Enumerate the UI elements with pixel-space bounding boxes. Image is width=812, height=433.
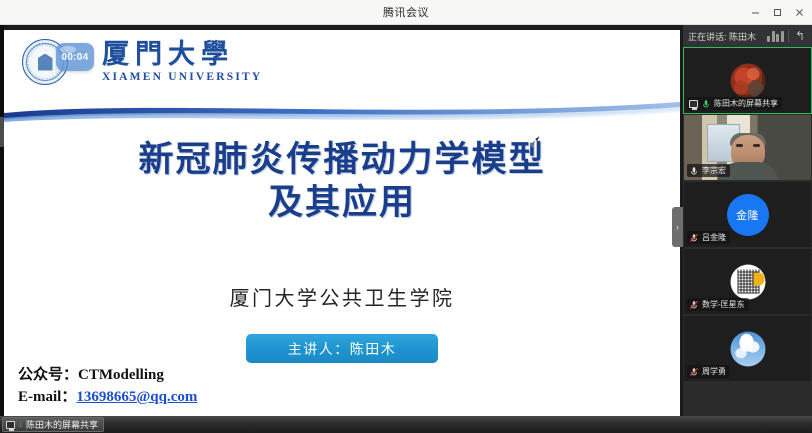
shared-screen-stage[interactable]: 00:04 厦門大學 XIAMEN UNIVERSITY: [0, 25, 683, 416]
window-title: 腾讯会议: [383, 4, 429, 20]
participant-tile[interactable]: 李宗宏: [683, 114, 812, 181]
collapse-right-icon[interactable]: ↰: [793, 30, 807, 42]
email-value[interactable]: 13698665@qq.com: [76, 389, 197, 405]
header-swoosh-divider: [4, 96, 680, 122]
university-name-cn: 厦門大學: [102, 41, 262, 69]
toolbar-separator: [788, 30, 789, 42]
avatar: 金隆: [727, 194, 769, 236]
maximize-icon[interactable]: [766, 2, 788, 24]
minimize-icon[interactable]: [744, 2, 766, 24]
screen-share-icon: [689, 100, 698, 108]
participant-tile[interactable]: 数学-匡星东: [683, 248, 812, 315]
slide-header: 00:04 厦門大學 XIAMEN UNIVERSITY: [4, 30, 680, 102]
active-speaker-bar: 正在讲话: 陈田木 ↰: [683, 25, 812, 47]
meeting-timer-badge: 00:04: [56, 43, 94, 71]
participant-tile[interactable]: 金隆 吕金隆: [683, 181, 812, 248]
wechat-line: 公众号：CTModelling: [18, 365, 197, 386]
mic-muted-icon: [689, 233, 699, 243]
taskbar: ↓ 陈田木的屏幕共享: [0, 416, 812, 433]
sidebar-collapse-handle[interactable]: ›: [672, 207, 683, 247]
email-label: E-mail：: [18, 389, 76, 405]
email-line: E-mail：13698665@qq.com: [18, 387, 197, 408]
participant-name: 数学-匡星东: [702, 299, 745, 310]
participant-tiles: 陈田木的屏幕共享 李宗宏: [683, 47, 812, 382]
participant-tile[interactable]: 陈田木的屏幕共享: [683, 47, 812, 114]
mic-on-icon: [689, 166, 699, 176]
speaking-waveform-icon: [767, 30, 784, 42]
wechat-label: 公众号：: [18, 367, 78, 383]
active-speaker-label: 正在讲话: 陈田木: [688, 30, 763, 43]
presentation-slide: 00:04 厦門大學 XIAMEN UNIVERSITY: [4, 30, 680, 416]
tile-label: 吕金隆: [687, 231, 730, 244]
taskbar-item-label: 陈田木的屏幕共享: [26, 418, 98, 431]
mic-muted-icon: [689, 300, 699, 310]
participant-name: 李宗宏: [702, 165, 726, 176]
app-root: 腾讯会议 00:04: [0, 0, 812, 433]
participant-name: 周学勇: [702, 366, 726, 377]
chevron-right-icon: ›: [676, 222, 679, 232]
tile-label: 陈田木的屏幕共享: [687, 97, 782, 110]
page-title: 新冠肺炎传播动力学模型 及其应用: [4, 138, 680, 225]
window-controls: [744, 0, 810, 25]
close-icon[interactable]: [788, 2, 810, 24]
university-names: 厦門大學 XIAMEN UNIVERSITY: [102, 41, 262, 82]
mic-muted-icon: [689, 367, 699, 377]
slide-subtitle: 厦门大学公共卫生学院: [4, 282, 680, 311]
wechat-value: CTModelling: [78, 367, 164, 383]
participant-name: 陈田木的屏幕共享: [714, 98, 778, 109]
slide-title-line-1: 新冠肺炎传播动力学模型: [4, 138, 680, 181]
tile-label: 数学-匡星东: [687, 298, 749, 311]
university-logo-row: 00:04 厦門大學 XIAMEN UNIVERSITY: [22, 39, 262, 85]
avatar: [730, 264, 765, 299]
avatar: [730, 63, 765, 98]
taskbar-item-screen-share[interactable]: ↓ 陈田木的屏幕共享: [2, 417, 104, 432]
avatar: [730, 331, 765, 366]
download-arrow-icon: ↓: [18, 420, 23, 430]
tile-label: 李宗宏: [687, 164, 730, 177]
tile-label: 周学勇: [687, 365, 730, 378]
mic-on-icon: [701, 99, 711, 109]
screen-share-icon: [6, 421, 15, 429]
participant-name: 吕金隆: [702, 232, 726, 243]
university-name-en: XIAMEN UNIVERSITY: [102, 71, 262, 83]
speaker-badge: 主讲人：陈田木: [246, 334, 438, 363]
window-titlebar: 腾讯会议: [0, 0, 812, 25]
participant-tile[interactable]: 周学勇: [683, 315, 812, 382]
slide-title-line-2: 及其应用: [4, 181, 680, 224]
contact-block: 公众号：CTModelling E-mail：13698665@qq.com: [18, 365, 197, 408]
participants-sidebar: 正在讲话: 陈田木 ↰ 陈田木的屏幕共享: [683, 25, 812, 416]
